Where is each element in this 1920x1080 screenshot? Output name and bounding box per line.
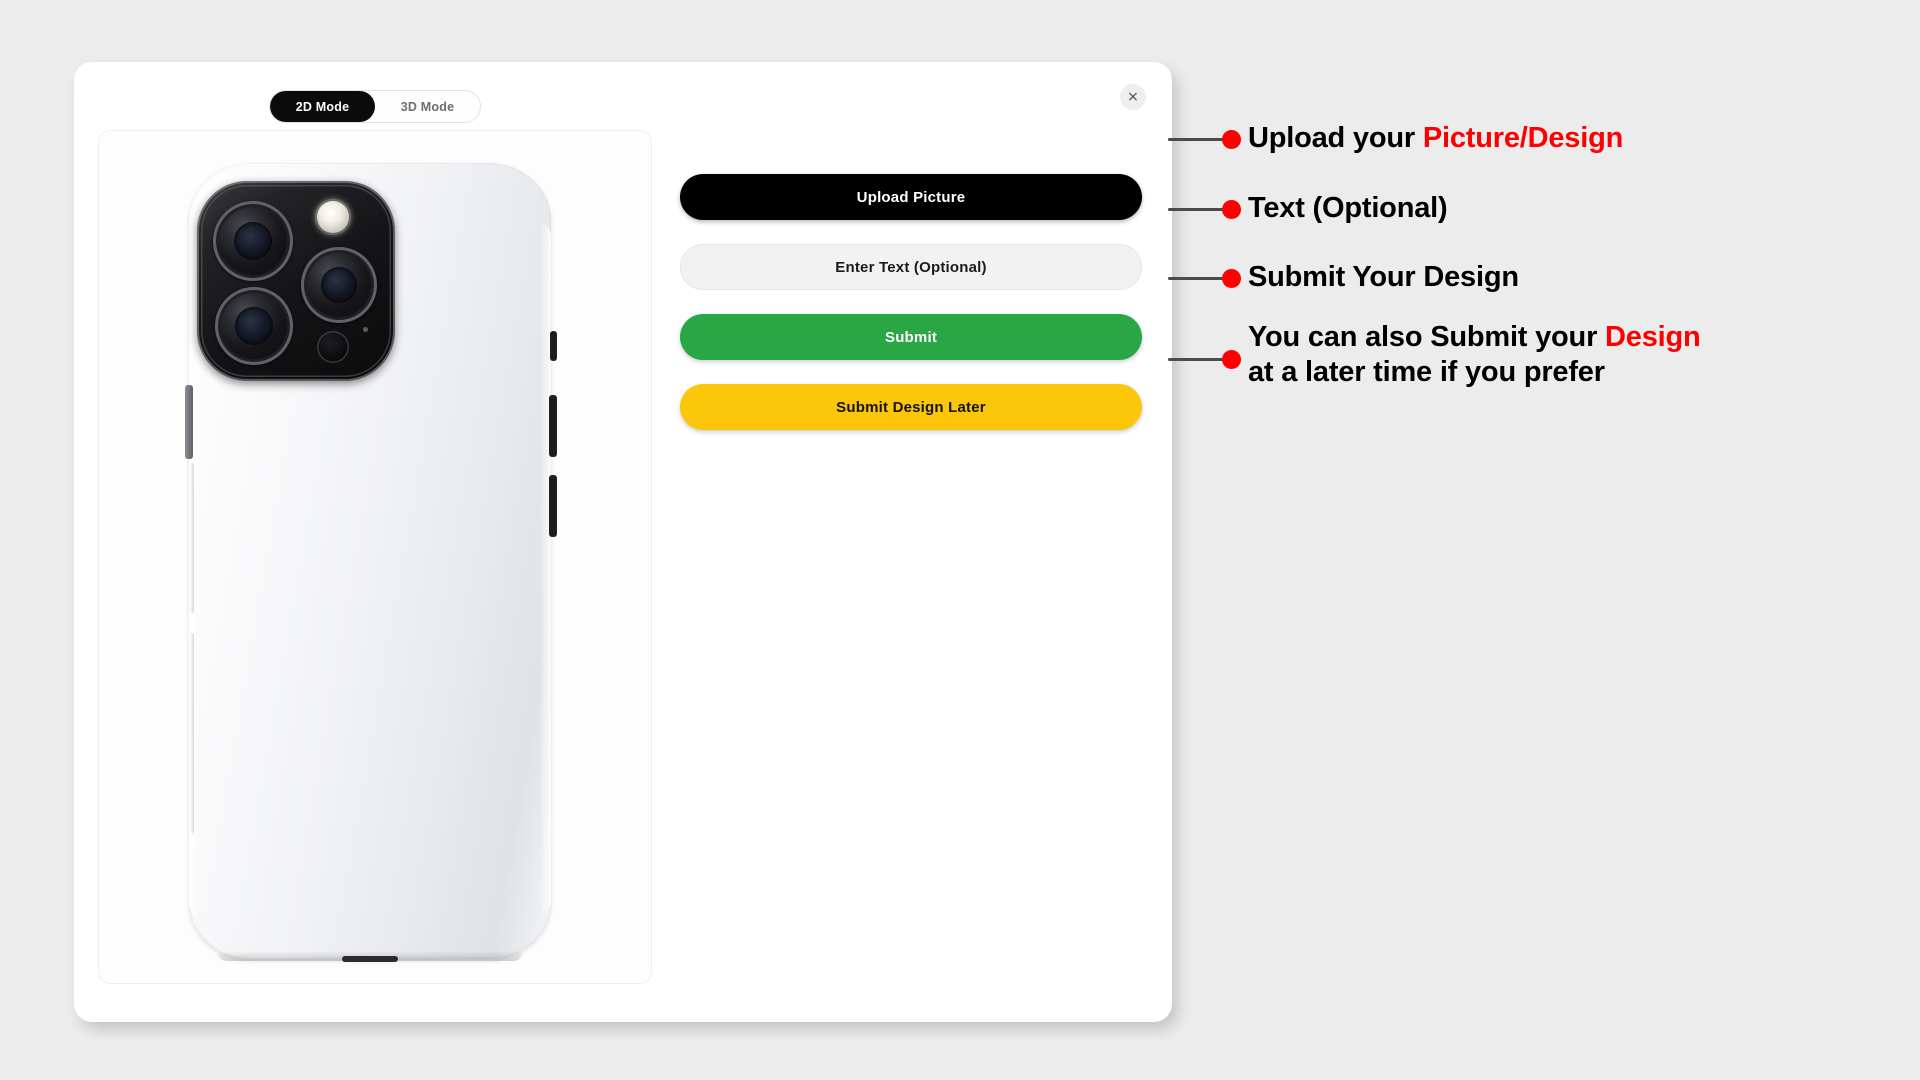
leader-line-upload: [1168, 138, 1226, 141]
annotation-later-highlight: Design: [1605, 321, 1701, 353]
annotation-upload: Upload your Picture/Design: [1248, 121, 1623, 156]
leader-dot-submit: [1222, 269, 1241, 288]
enter-text-input[interactable]: Enter Text (Optional): [680, 244, 1142, 290]
action-button-cutout: [185, 385, 193, 459]
close-icon[interactable]: ×: [1120, 84, 1146, 110]
mute-switch-cutout: [550, 331, 557, 361]
annotation-upload-highlight: Picture/Design: [1423, 122, 1623, 154]
annotation-text-plain: Text (Optional): [1248, 192, 1447, 224]
product-preview-panel[interactable]: [98, 130, 652, 984]
phone-case-mockup: [179, 163, 561, 963]
annotation-submit: Submit Your Design: [1248, 260, 1519, 295]
leader-dot-later: [1222, 350, 1241, 369]
camera-lens-ultrawide: [215, 287, 293, 365]
camera-lens-wide: [213, 201, 293, 281]
volume-down-cutout: [549, 475, 557, 537]
annotation-later-line2: at a later time if you prefer: [1248, 356, 1605, 388]
submit-design-later-button[interactable]: Submit Design Later: [680, 384, 1142, 430]
annotation-later: You can also Submit your Designat a late…: [1248, 320, 1701, 391]
case-seam-upper: [190, 463, 194, 613]
volume-up-cutout: [549, 395, 557, 457]
lidar-sensor-icon: [317, 331, 349, 363]
charging-port-cutout: [342, 956, 398, 962]
mode-toggle-2d[interactable]: 2D Mode: [270, 91, 375, 122]
mode-toggle-3d[interactable]: 3D Mode: [375, 91, 480, 122]
leader-dot-text: [1222, 200, 1241, 219]
lens-glint: [327, 272, 337, 280]
design-controls: Upload Picture Enter Text (Optional) Sub…: [680, 174, 1142, 454]
annotation-text: Text (Optional): [1248, 191, 1447, 226]
camera-flash-icon: [315, 199, 351, 235]
annotation-upload-plain: Upload your: [1248, 122, 1423, 154]
annotation-submit-plain: Submit Your Design: [1248, 261, 1519, 293]
upload-picture-button[interactable]: Upload Picture: [680, 174, 1142, 220]
leader-dot-upload: [1222, 130, 1241, 149]
case-rim-right: [539, 223, 551, 913]
mode-toggle[interactable]: 2D Mode 3D Mode: [269, 90, 481, 123]
annotation-layer: Upload your Picture/Design Text (Optiona…: [1168, 0, 1920, 1080]
lens-glint: [240, 227, 250, 236]
case-seam-lower: [190, 633, 194, 833]
camera-module: [197, 181, 395, 381]
screen-root: 2D Mode 3D Mode ×: [0, 0, 1920, 1080]
submit-button[interactable]: Submit: [680, 314, 1142, 360]
leader-line-text: [1168, 208, 1226, 211]
leader-line-submit: [1168, 277, 1226, 280]
microphone-dot-icon: [363, 327, 368, 332]
annotation-later-plain: You can also Submit your: [1248, 321, 1605, 353]
camera-lens-telephoto: [301, 247, 377, 323]
lens-glint: [242, 313, 252, 322]
design-modal: 2D Mode 3D Mode ×: [74, 62, 1172, 1022]
leader-line-later: [1168, 358, 1226, 361]
